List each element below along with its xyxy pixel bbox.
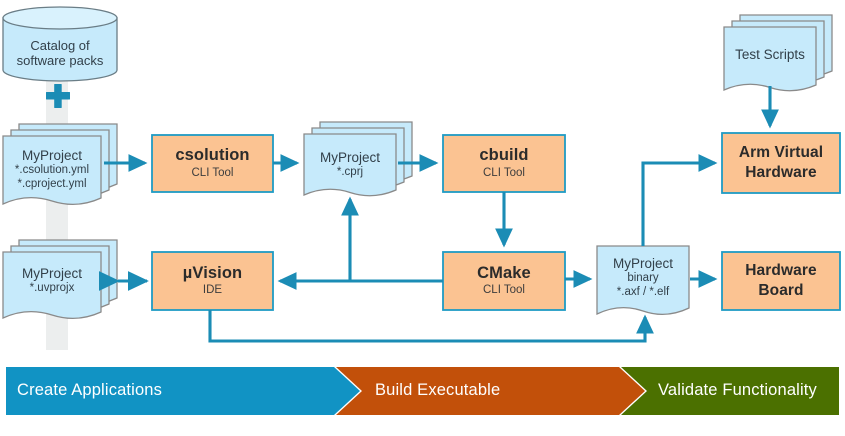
cbuild-cli-tool[interactable] xyxy=(443,135,565,192)
catalog-of-software-packs xyxy=(3,7,117,81)
test-scripts-documents xyxy=(724,15,832,91)
arrow-uvision-to-binary xyxy=(210,310,645,341)
arrow-binary-to-avh xyxy=(643,163,715,246)
phase-build-executable[interactable] xyxy=(336,367,645,415)
myproject-cprj-documents xyxy=(304,122,412,196)
uvision-ide[interactable] xyxy=(152,252,273,310)
myproject-uvprojx-documents xyxy=(3,240,117,318)
arm-virtual-hardware[interactable] xyxy=(722,133,840,193)
csolution-cli-tool[interactable] xyxy=(152,135,273,192)
phase-validate-functionality[interactable] xyxy=(621,367,839,415)
diagram-canvas: Catalog of software packs MyProject *.cs… xyxy=(0,0,845,436)
phase-create-applications[interactable] xyxy=(6,367,360,415)
diagram-svg xyxy=(0,0,845,436)
hardware-board[interactable] xyxy=(722,252,840,310)
myproject-yml-documents xyxy=(3,124,117,204)
phase-banner xyxy=(6,367,839,415)
myproject-binary-document xyxy=(597,246,689,314)
cmake-cli-tool[interactable] xyxy=(443,252,565,310)
